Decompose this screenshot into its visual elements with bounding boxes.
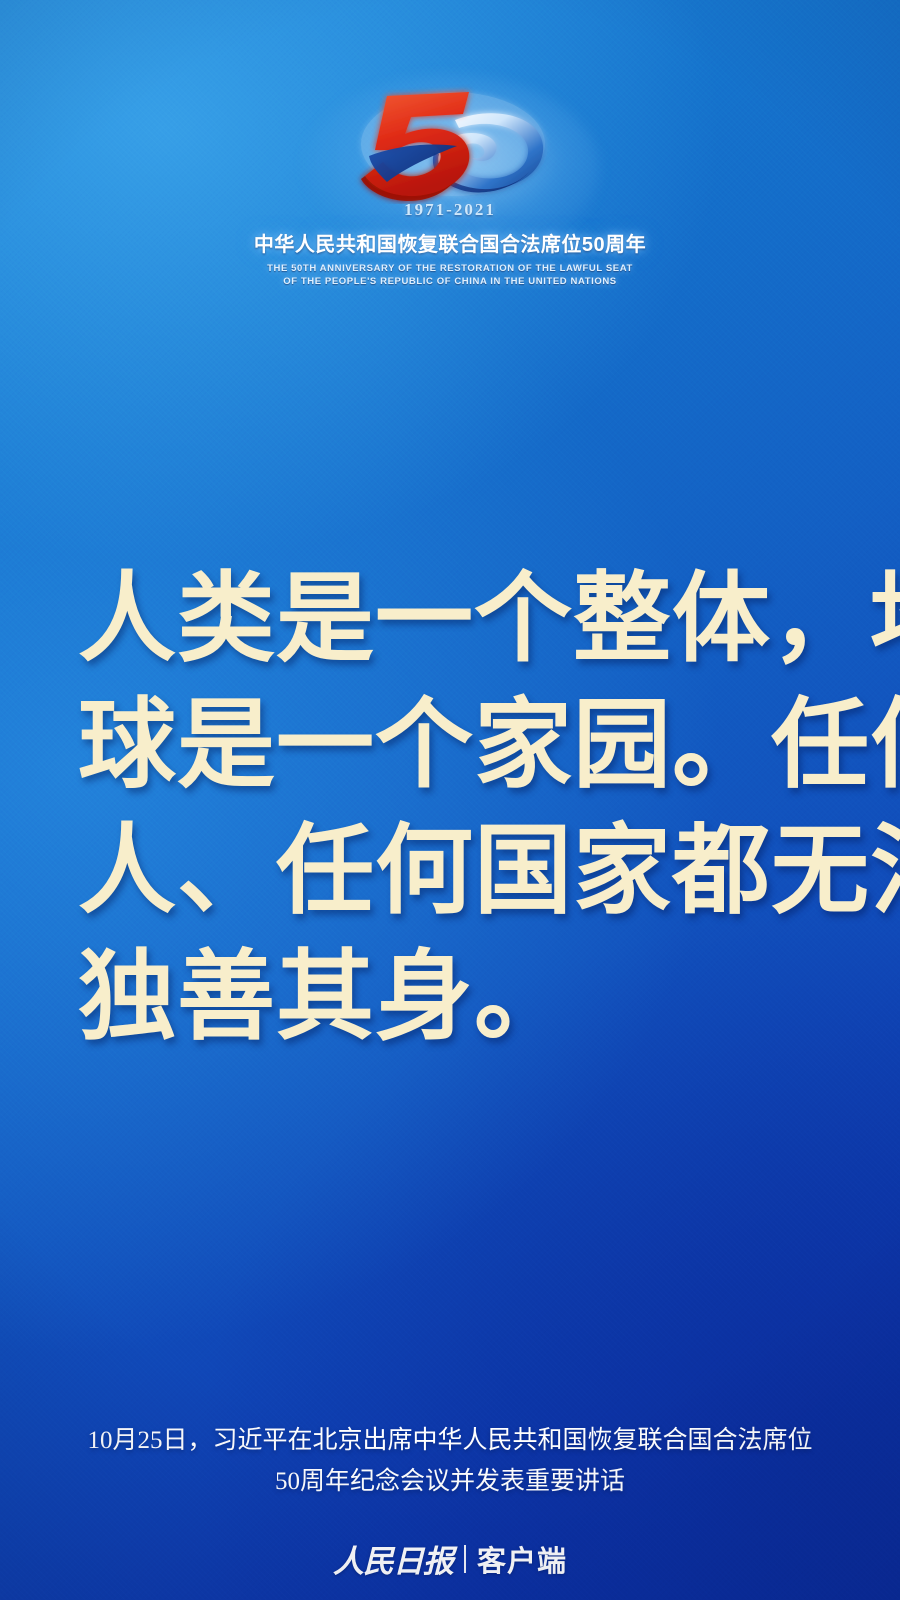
quote-line-1: 人类是一个整体，地 [78,556,838,682]
anniversary-50-logo-icon [335,84,565,204]
caption-block: 10月25日，习近平在北京出席中华人民共和国恢复联合国合法席位 50周年纪念会议… [0,1420,900,1502]
emblem-title-chinese: 中华人民共和国恢复联合国合法席位50周年 [0,228,900,257]
anniversary-emblem: 1971-2021 中华人民共和国恢复联合国合法席位50周年 THE 50TH … [0,84,900,288]
quote-line-2: 球是一个家园。任何 [78,682,838,808]
brand-divider [464,1545,466,1573]
quote-block: 人类是一个整体，地 球是一个家园。任何 人、任何国家都无法 独善其身。 [78,556,838,1060]
emblem-year-range: 1971-2021 [0,200,900,220]
poster-canvas: 1971-2021 中华人民共和国恢复联合国合法席位50周年 THE 50TH … [0,0,900,1600]
caption-line-1: 10月25日，习近平在北京出席中华人民共和国恢复联合国合法席位 [0,1420,900,1461]
quote-line-3: 人、任何国家都无法 [78,808,838,934]
caption-line-2: 50周年纪念会议并发表重要讲话 [0,1461,900,1502]
emblem-title-english-line2: OF THE PEOPLE'S REPUBLIC OF CHINA IN THE… [0,275,900,288]
emblem-title-english-line1: THE 50TH ANNIVERSARY OF THE RESTORATION … [0,262,900,275]
publisher-logo-text: 人民日报 [333,1536,453,1581]
product-name-text: 客户端 [477,1538,567,1580]
quote-line-4: 独善其身。 [78,934,838,1060]
footer-brand: 人民日报 客户端 [0,1536,900,1581]
